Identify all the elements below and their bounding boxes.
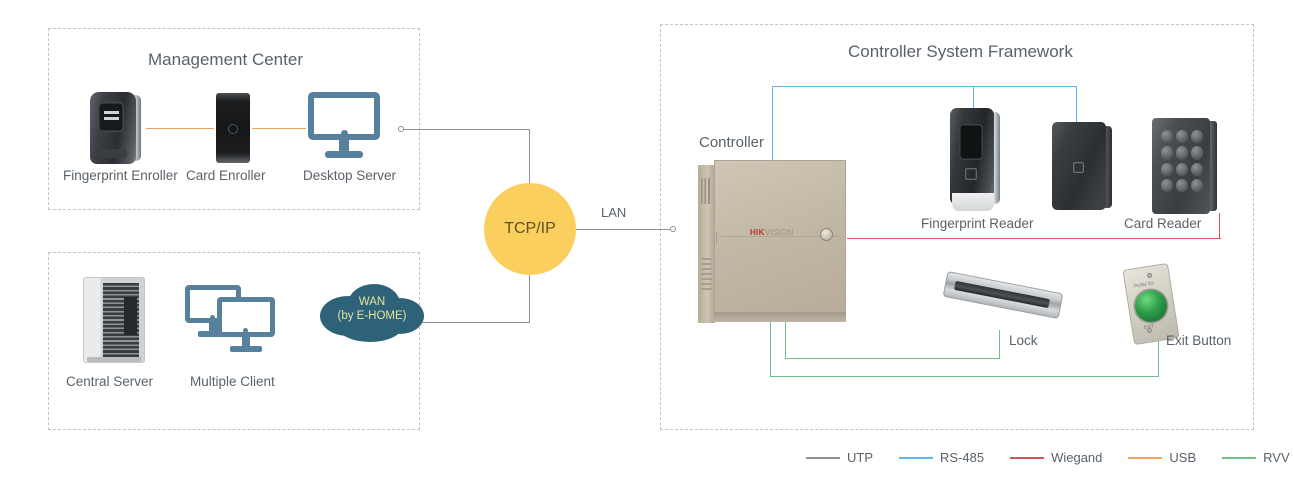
server-rack-icon bbox=[83, 277, 145, 363]
rs485-drop-fingerprint-reader bbox=[973, 86, 974, 110]
utp-line-wan-right bbox=[422, 322, 530, 323]
keypad-reader-icon bbox=[1152, 118, 1220, 218]
fingerprint-enroller-label: Fingerprint Enroller bbox=[63, 168, 178, 183]
multiple-client-label: Multiple Client bbox=[190, 374, 275, 389]
lock-label: Lock bbox=[1009, 333, 1038, 348]
monitor-icon bbox=[308, 92, 380, 162]
wan-label-line1: WAN bbox=[318, 296, 426, 310]
rvv-line-controller-lock-down bbox=[785, 322, 786, 359]
network-diagram: Management Center Controller System Fram… bbox=[0, 0, 1294, 497]
rs485-line-controller-up bbox=[772, 86, 773, 160]
card-reader-icon bbox=[1052, 122, 1114, 214]
rvv-line-lock-up bbox=[999, 330, 1000, 359]
rs485-bus-top bbox=[772, 86, 1077, 87]
usb-link-card-to-desktop bbox=[252, 128, 306, 129]
rs485-drop-card-reader bbox=[1076, 86, 1077, 124]
wiegand-line-horizontal bbox=[847, 238, 1221, 239]
card-reader-label: Card Reader bbox=[1124, 216, 1201, 231]
legend-swatch bbox=[806, 457, 840, 459]
controller-brand-suffix: VISION bbox=[765, 228, 794, 237]
controller-brand: HIK bbox=[750, 228, 765, 237]
tcpip-label: TCP/IP bbox=[504, 220, 556, 238]
legend-item-rs-485: RS-485 bbox=[899, 450, 984, 465]
lan-label: LAN bbox=[601, 205, 626, 220]
access-controller-icon: HIKVISION bbox=[698, 160, 846, 324]
exit-button-label: Exit Button bbox=[1166, 333, 1231, 348]
usb-link-fp-to-card bbox=[146, 128, 214, 129]
legend-item-usb: USB bbox=[1128, 450, 1196, 465]
utp-endpoint-controller-group bbox=[670, 226, 676, 232]
legend-label: RS-485 bbox=[940, 450, 984, 465]
legend-swatch bbox=[899, 457, 933, 459]
card-enroller-icon bbox=[216, 93, 250, 163]
legend-swatch bbox=[1010, 457, 1044, 459]
card-enroller-label: Card Enroller bbox=[186, 168, 266, 183]
utp-line-desktop-right bbox=[403, 129, 530, 130]
legend-label: Wiegand bbox=[1051, 450, 1102, 465]
dual-monitor-icon bbox=[185, 285, 277, 357]
utp-line-lan bbox=[575, 229, 673, 230]
legend-item-wiegand: Wiegand bbox=[1010, 450, 1102, 465]
fingerprint-reader-icon bbox=[944, 108, 1006, 216]
fingerprint-enroller-icon bbox=[86, 92, 144, 164]
controller-label: Controller bbox=[699, 134, 764, 151]
management-center-title: Management Center bbox=[148, 50, 303, 70]
fingerprint-reader-label: Fingerprint Reader bbox=[921, 216, 1034, 231]
rvv-line-lock-horizontal bbox=[785, 358, 1000, 359]
legend: UTPRS-485WiegandUSBRVV bbox=[806, 450, 1290, 465]
legend-swatch bbox=[1222, 457, 1256, 459]
rvv-line-controller-exit-down bbox=[770, 322, 771, 377]
tcpip-node[interactable]: TCP/IP bbox=[484, 183, 576, 275]
controller-system-title: Controller System Framework bbox=[848, 42, 1073, 62]
wan-label-line2: (by E-HOME) bbox=[318, 310, 426, 324]
rvv-line-exit-horizontal bbox=[770, 376, 1159, 377]
desktop-server-label: Desktop Server bbox=[303, 168, 396, 183]
legend-swatch bbox=[1128, 457, 1162, 459]
legend-label: USB bbox=[1169, 450, 1196, 465]
legend-item-utp: UTP bbox=[806, 450, 873, 465]
central-server-label: Central Server bbox=[66, 374, 153, 389]
magnetic-lock-icon bbox=[944, 272, 1062, 320]
legend-item-rvv: RVV bbox=[1222, 450, 1290, 465]
legend-label: UTP bbox=[847, 450, 873, 465]
cloud-icon: WAN (by E-HOME) bbox=[318, 282, 426, 344]
legend-label: RVV bbox=[1263, 450, 1290, 465]
